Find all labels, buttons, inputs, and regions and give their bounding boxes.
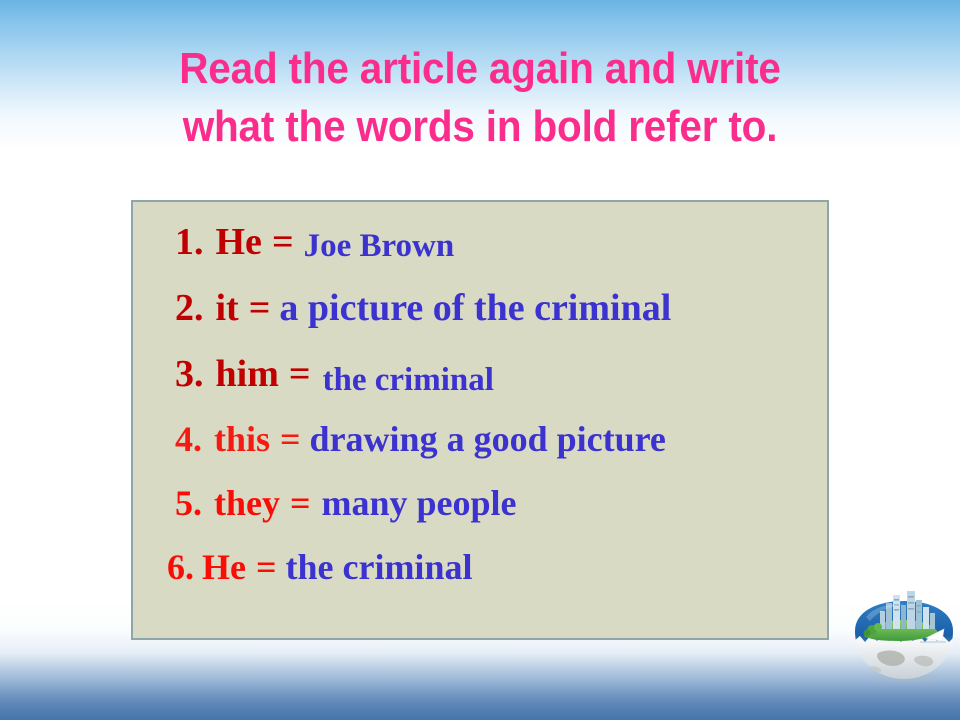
answer-row-2-equals: =: [249, 287, 271, 329]
answer-row-3-equals: =: [289, 353, 311, 395]
answer-row-3-value: the criminal: [323, 362, 494, 399]
answer-row-3-prompt: 3.him=: [175, 352, 311, 396]
answer-row-4-prompt: 4.this=: [175, 418, 301, 460]
answer-row-2-pronoun: it: [216, 287, 239, 329]
answer-row-5-prompt: 5.they=: [175, 482, 311, 524]
answer-row-1-prompt: 1.He=: [175, 220, 294, 264]
answer-row-5: 5.they= many people: [175, 482, 827, 524]
answer-row-1-pronoun: He: [216, 221, 262, 263]
answer-row-6-number: 6.: [167, 547, 194, 587]
earth-city-globe-icon: [848, 583, 960, 683]
slide-canvas: Read the article again and write what th…: [0, 0, 960, 720]
title-line-1: Read the article again and write: [38, 40, 921, 98]
answer-row-4-equals: =: [280, 419, 301, 459]
answer-row-1-equals: =: [272, 221, 294, 263]
answer-row-5-value: many people: [322, 482, 517, 524]
answer-row-1: 1.He= Joe Brown: [175, 220, 827, 264]
answer-row-6-pronoun: He: [202, 547, 246, 587]
answer-row-6-prompt: 6.He=: [167, 546, 277, 588]
answer-row-6-value: the criminal: [286, 546, 473, 588]
answer-row-4-pronoun: this: [214, 419, 270, 459]
answer-row-3: 3.him= the criminal: [175, 352, 827, 396]
answers-panel: 1.He= Joe Brown 2.it= a picture of the c…: [131, 200, 829, 640]
answer-row-6-equals: =: [256, 547, 277, 587]
answer-row-4-value: drawing a good picture: [310, 418, 666, 460]
answer-row-5-pronoun: they: [214, 483, 280, 523]
answer-row-5-equals: =: [290, 483, 311, 523]
answer-row-5-number: 5.: [175, 483, 202, 523]
answer-row-4: 4.this= drawing a good picture: [175, 418, 827, 460]
answer-row-2-prompt: 2.it=: [175, 286, 270, 330]
answer-row-2-number: 2.: [175, 287, 204, 329]
answer-row-1-value: Joe Brown: [304, 228, 455, 265]
answer-row-3-number: 3.: [175, 353, 204, 395]
answer-row-4-number: 4.: [175, 419, 202, 459]
answer-row-2: 2.it= a picture of the criminal: [175, 286, 827, 330]
answer-row-6: 6.He= the criminal: [167, 546, 827, 588]
page-title: Read the article again and write what th…: [38, 40, 921, 156]
answer-row-3-pronoun: him: [216, 353, 279, 395]
answer-row-2-value: a picture of the criminal: [279, 286, 671, 330]
answer-row-1-number: 1.: [175, 221, 204, 263]
title-line-2: what the words in bold refer to.: [38, 98, 921, 156]
water-gradient-decoration: [0, 628, 960, 720]
